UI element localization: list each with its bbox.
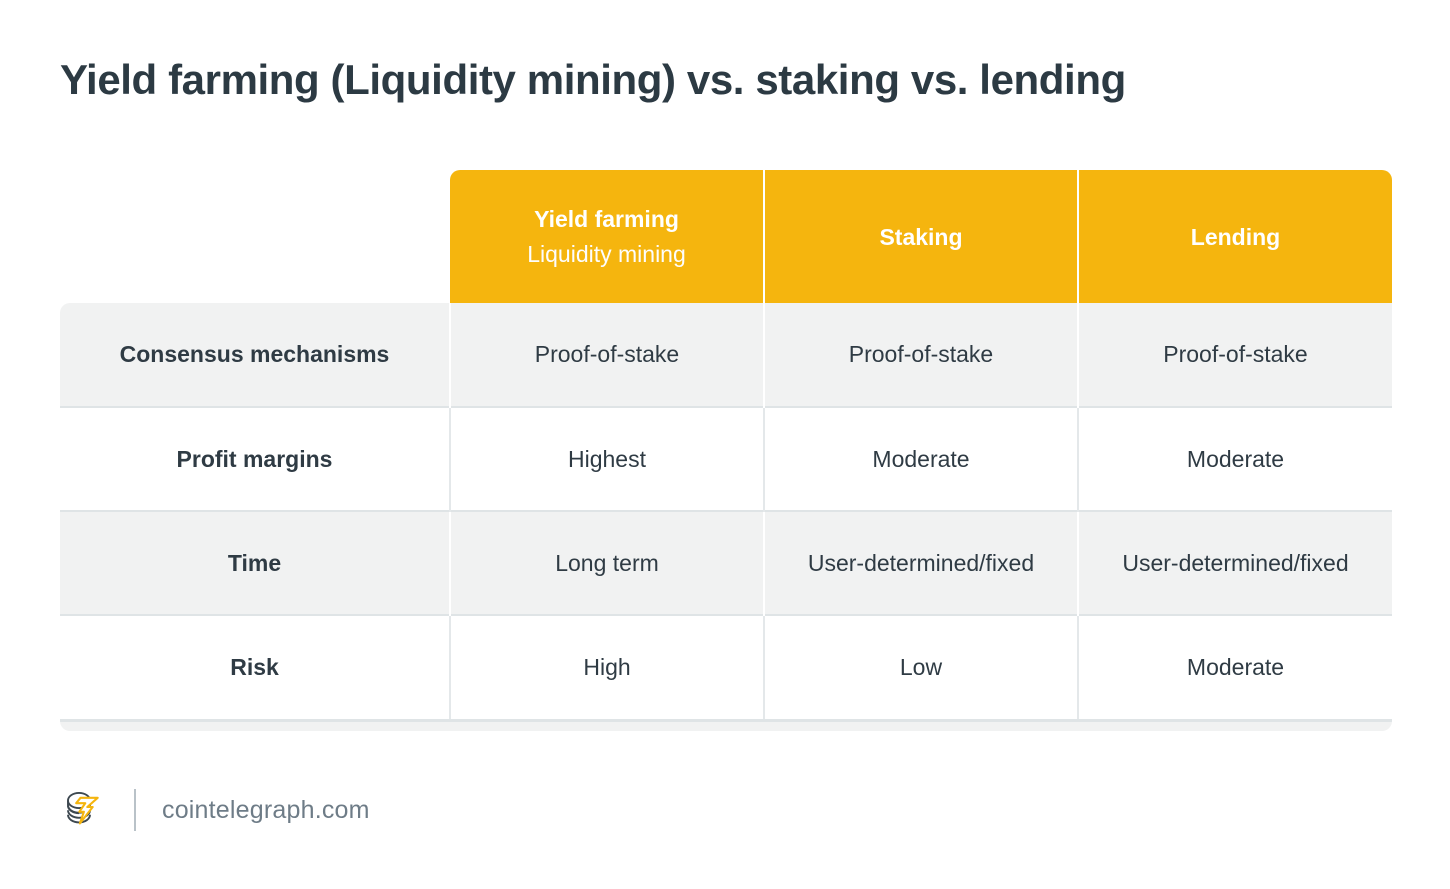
table-row: Consensus mechanisms Proof-of-stake Proo… bbox=[60, 303, 1392, 407]
table-header: Yield farming Liquidity mining Staking L… bbox=[60, 170, 1392, 303]
cell-risk-lending: Moderate bbox=[1078, 615, 1392, 719]
cell-risk-yield-farming: High bbox=[450, 615, 764, 719]
cell-profit-lending: Moderate bbox=[1078, 407, 1392, 511]
brand-footer: cointelegraph.com bbox=[60, 780, 370, 840]
cell-consensus-lending: Proof-of-stake bbox=[1078, 303, 1392, 407]
cell-time-lending: User-determined/fixed bbox=[1078, 511, 1392, 615]
row-label-risk: Risk bbox=[60, 615, 450, 719]
header-cell-staking: Staking bbox=[764, 170, 1078, 303]
table-body: Consensus mechanisms Proof-of-stake Proo… bbox=[60, 303, 1392, 719]
cointelegraph-coin-stack-bolt-icon bbox=[60, 787, 106, 833]
header-title-staking: Staking bbox=[775, 220, 1067, 254]
header-cell-blank bbox=[60, 170, 450, 303]
comparison-table-wrapper: Yield farming Liquidity mining Staking L… bbox=[60, 170, 1392, 731]
header-title-yield-farming: Yield farming bbox=[460, 202, 753, 236]
cell-profit-staking: Moderate bbox=[764, 407, 1078, 511]
cell-profit-yield-farming: Highest bbox=[450, 407, 764, 511]
brand-site-name: cointelegraph.com bbox=[162, 796, 370, 825]
header-cell-lending: Lending bbox=[1078, 170, 1392, 303]
cell-time-staking: User-determined/fixed bbox=[764, 511, 1078, 615]
cell-consensus-yield-farming: Proof-of-stake bbox=[450, 303, 764, 407]
table-row: Risk High Low Moderate bbox=[60, 615, 1392, 719]
row-label-time: Time bbox=[60, 511, 450, 615]
header-subtitle-liquidity-mining: Liquidity mining bbox=[460, 237, 753, 271]
cell-consensus-staking: Proof-of-stake bbox=[764, 303, 1078, 407]
brand-divider bbox=[134, 789, 136, 831]
table-row: Time Long term User-determined/fixed Use… bbox=[60, 511, 1392, 615]
row-label-consensus-mechanisms: Consensus mechanisms bbox=[60, 303, 450, 407]
table-footer-bar bbox=[60, 719, 1392, 731]
cell-time-yield-farming: Long term bbox=[450, 511, 764, 615]
header-title-lending: Lending bbox=[1089, 220, 1382, 254]
infographic-page: Yield farming (Liquidity mining) vs. sta… bbox=[0, 0, 1450, 889]
page-title: Yield farming (Liquidity mining) vs. sta… bbox=[60, 50, 1400, 110]
table-row: Profit margins Highest Moderate Moderate bbox=[60, 407, 1392, 511]
row-label-profit-margins: Profit margins bbox=[60, 407, 450, 511]
cell-risk-staking: Low bbox=[764, 615, 1078, 719]
header-row: Yield farming Liquidity mining Staking L… bbox=[60, 170, 1392, 303]
header-cell-yield-farming: Yield farming Liquidity mining bbox=[450, 170, 764, 303]
comparison-table: Yield farming Liquidity mining Staking L… bbox=[60, 170, 1392, 719]
